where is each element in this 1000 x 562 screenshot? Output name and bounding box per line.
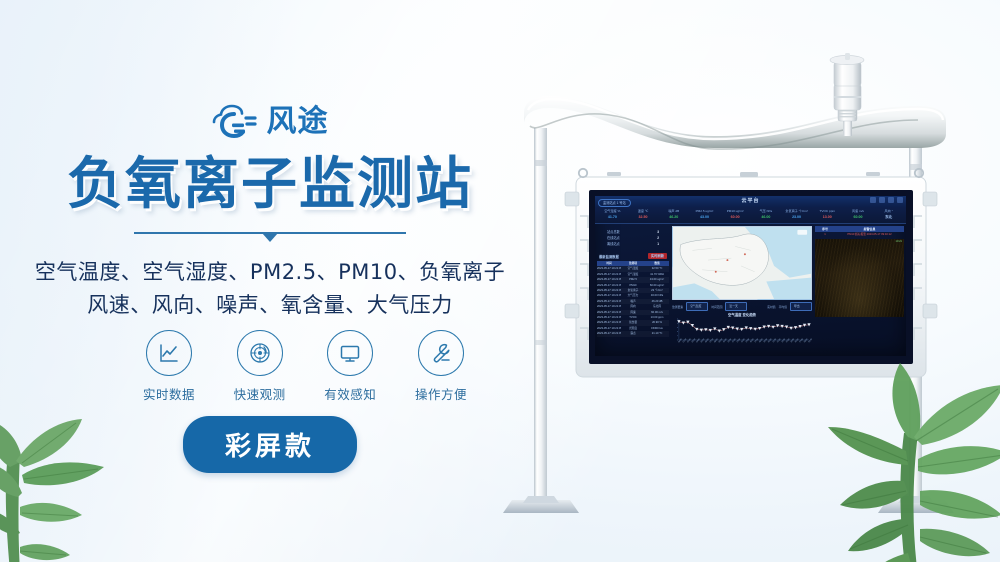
feature-item-easy-operation[interactable]: 操作方便 — [402, 330, 480, 403]
feature-label: 快速观测 — [221, 384, 299, 403]
feature-circle — [237, 330, 283, 376]
mount-eyelet-left — [579, 169, 587, 177]
table-cell: 21.10 ℃ — [645, 331, 669, 336]
subtitle-line-2: 风速、风向、噪声、氧含量、大气压力 — [0, 289, 540, 322]
svg-text:29:00: 29:00 — [808, 338, 812, 343]
dashboard-topbar: 监测站点 1 号站 云平台 — [595, 196, 906, 207]
metric-card: PM10 ug/m³60.00 — [720, 209, 751, 220]
user-icon[interactable] — [897, 197, 903, 203]
dashboard-title: 云平台 — [595, 197, 906, 204]
brand-logo[interactable]: 风途 — [0, 104, 540, 140]
legend-average: 平均值 — [779, 305, 787, 309]
monitor-screen-icon — [338, 341, 362, 365]
metric-value: 41.70 — [597, 214, 628, 220]
metric-card: TVOC ppm13.00 — [812, 209, 843, 220]
table-row[interactable]: 2023-05-17 10:21:05露点21.10 ℃ — [597, 331, 669, 336]
dashboard-center-column: 监测要素 空气温度 时间范围 近一天 实时值 平均值 导出 空气温度 变化趋势 … — [671, 224, 813, 324]
feature-circle — [146, 330, 192, 376]
table-title: 最新监测数据 — [599, 254, 619, 259]
brand-name: 风途 — [267, 107, 329, 137]
feature-item-realtime-data[interactable]: 实时数据 — [130, 330, 208, 403]
camera-feed[interactable]: 10:21 — [815, 239, 904, 317]
subtitle: 空气温度、空气湿度、PM2.5、PM10、负氧离子 风速、风向、噪声、氧含量、大… — [0, 256, 540, 321]
range-select[interactable]: 近一天 — [725, 302, 747, 311]
feature-label: 实时数据 — [130, 384, 208, 403]
feature-label: 有效感知 — [311, 384, 389, 403]
chevron-down-icon — [262, 233, 278, 242]
measurement-table[interactable]: 时间监测项数值2023-05-17 10:21:05空气温度32.50 ℃202… — [597, 261, 669, 337]
text-panel: 风途 负氧离子监测站 空气温度、空气湿度、PM2.5、PM10、负氧离子 风速、… — [0, 0, 540, 562]
wrench-icon — [429, 341, 453, 365]
metric-value: 60.00 — [720, 214, 751, 220]
camera-timestamp: 10:21 — [896, 240, 903, 243]
export-button[interactable]: 导出 — [790, 302, 812, 311]
feature-label: 操作方便 — [402, 384, 480, 403]
cloud-g-logo-icon — [212, 104, 258, 140]
metric-value: 46.20 — [658, 214, 689, 220]
dashboard-right-column: 序号 报警信息 1 PM10 超标报警 2023-05-17 09:40:12 … — [813, 224, 906, 324]
legend-realtime: 实时值 — [767, 305, 775, 309]
metric-card: PM2.5 ug/m³43.00 — [689, 209, 720, 220]
feature-item-fast-observation[interactable]: 快速观测 — [221, 330, 299, 403]
table-header-bar: 最新监测数据 实时刷新 — [597, 252, 669, 260]
feature-circle — [327, 330, 373, 376]
table-cell: 露点 — [621, 331, 645, 336]
metric-value: 46.00 — [751, 214, 782, 220]
metric-card: 风向 °东北 — [873, 209, 904, 220]
page-title: 负氧离子监测站 — [0, 155, 540, 215]
promo-banner: 监测站点 1 号站 云平台 空气湿度 %41.70温度 ℃32.50噪声 dB4… — [0, 0, 1000, 562]
metric-card: 负氧离子 个/cm³23.00 — [781, 209, 812, 220]
feature-item-effective-sensing[interactable]: 有效感知 — [311, 330, 389, 403]
station-stats: 站点总数3在线站点2离线站点1 — [597, 226, 669, 251]
metric-card: 空气湿度 %41.70 — [597, 209, 628, 220]
metric-value: 60.00 — [843, 214, 874, 220]
alert-index: 1 — [815, 232, 835, 238]
station-map[interactable] — [672, 226, 812, 300]
chart-icon[interactable] — [879, 197, 885, 203]
stat-label: 离线站点 — [607, 241, 620, 247]
range-label: 时间范围 — [711, 305, 722, 309]
model-badge-button[interactable]: 彩屏款 — [183, 416, 357, 473]
alert-message: PM10 超标报警 2023-05-17 09:40:12 — [835, 232, 904, 238]
metric-value: 43.00 — [689, 214, 720, 220]
metric-value: 东北 — [873, 214, 904, 220]
divider — [0, 232, 540, 234]
metric-card: 风速 m/s60.00 — [843, 209, 874, 220]
feature-list: 实时数据 快速观测 — [130, 330, 480, 403]
bell-icon[interactable] — [888, 197, 894, 203]
refresh-badge[interactable]: 实时刷新 — [648, 253, 667, 259]
topbar-icons[interactable] — [870, 197, 903, 203]
metric-card: 气压 hPa46.00 — [751, 209, 782, 220]
trend-chart: 00:0001:0002:0003:0004:0005:0006:0007:00… — [672, 317, 812, 351]
metric-card: 噪声 dB46.20 — [658, 209, 689, 220]
metric-value: 23.00 — [781, 214, 812, 220]
subtitle-line-1: 空气温度、空气湿度、PM2.5、PM10、负氧离子 — [0, 256, 540, 289]
metric-value: 13.00 — [812, 214, 843, 220]
grid-icon[interactable] — [870, 197, 876, 203]
feature-circle — [418, 330, 464, 376]
chart-controls[interactable]: 监测要素 空气温度 时间范围 近一天 实时值 平均值 导出 — [672, 302, 812, 311]
field-label: 监测要素 — [672, 305, 683, 309]
line-chart-icon — [157, 341, 181, 365]
dashboard-screen[interactable]: 监测站点 1 号站 云平台 空气湿度 %41.70温度 ℃32.50噪声 dB4… — [595, 196, 906, 356]
stat-value: 1 — [657, 241, 659, 247]
dashboard-left-column: 站点总数3在线站点2离线站点1 最新监测数据 实时刷新 时间监测项数值2023-… — [595, 224, 671, 324]
field-select[interactable]: 空气温度 — [686, 302, 708, 311]
radar-sensor-icon — [248, 341, 272, 365]
metric-card: 温度 ℃32.50 — [628, 209, 659, 220]
canopy-roof — [524, 96, 946, 149]
metric-value: 32.50 — [628, 214, 659, 220]
stat-row: 离线站点1 — [599, 241, 667, 247]
alert-row[interactable]: 1 PM10 超标报警 2023-05-17 09:40:12 — [815, 232, 904, 238]
pole-base-right — [878, 496, 954, 513]
table-cell: 2023-05-17 10:21:05 — [597, 331, 621, 336]
metric-cards: 空气湿度 %41.70温度 ℃32.50噪声 dB46.20PM2.5 ug/m… — [595, 207, 906, 224]
